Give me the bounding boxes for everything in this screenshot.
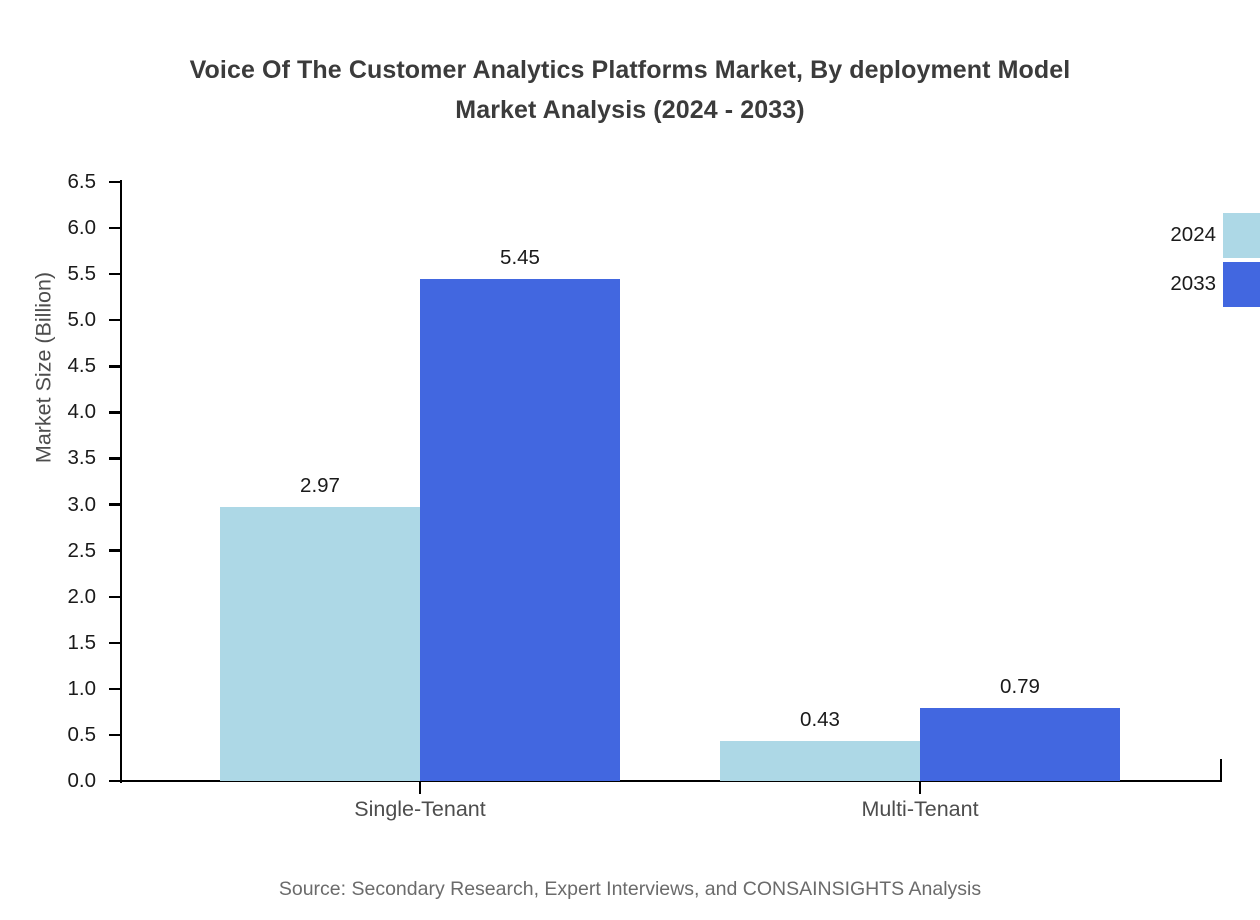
- y-axis-title-text: Market Size (Billion): [32, 272, 56, 463]
- x-axis-tick-label: Single-Tenant: [260, 797, 580, 822]
- legend-item-2033[interactable]: 2033: [1130, 262, 1260, 307]
- y-axis-tick-mark: [109, 596, 122, 598]
- x-axis-tick-mark: [919, 781, 921, 794]
- source-note-text: Source: Secondary Research, Expert Inter…: [279, 878, 981, 900]
- x-axis-tick-mark: [419, 781, 421, 794]
- source-note: Source: Secondary Research, Expert Inter…: [0, 878, 1260, 901]
- bar-value-label: 0.43: [720, 708, 920, 732]
- y-axis-tick-label: 2.5: [68, 539, 97, 563]
- y-axis-tick-label: 1.0: [68, 677, 97, 701]
- y-axis-tick-label: 5.0: [68, 308, 97, 332]
- y-axis-title: Market Size (Billion): [32, 238, 57, 498]
- bar-value-label: 2.97: [220, 474, 420, 498]
- bar-value-label: 5.45: [420, 246, 620, 270]
- x-axis-tick-label: Multi-Tenant: [760, 797, 1080, 822]
- y-axis-tick-mark: [109, 457, 122, 459]
- chart-title: Voice Of The Customer Analytics Platform…: [0, 50, 1260, 130]
- chart-title-line-1: Voice Of The Customer Analytics Platform…: [0, 50, 1260, 90]
- legend-color-swatch: [1223, 213, 1260, 258]
- y-axis-tick-mark: [109, 181, 122, 183]
- y-axis-tick-label: 1.5: [68, 631, 97, 655]
- chart-title-line-2: Market Analysis (2024 - 2033): [0, 90, 1260, 130]
- y-axis-tick-label: 6.5: [68, 170, 97, 194]
- y-axis-tick-label: 6.0: [68, 216, 97, 240]
- plot-area: 2.975.450.430.79: [122, 182, 1222, 781]
- y-axis-tick-label: 0.5: [68, 723, 97, 747]
- y-axis-tick-label: 4.0: [68, 400, 97, 424]
- y-axis-tick-mark: [109, 273, 122, 275]
- y-axis-tick-label: 5.5: [68, 262, 97, 286]
- bar-value-label: 0.79: [920, 675, 1120, 699]
- bar-2033-multi-tenant[interactable]: [920, 708, 1120, 781]
- legend-item-2024[interactable]: 2024: [1130, 213, 1260, 258]
- y-axis-tick-mark: [109, 642, 122, 644]
- y-axis-tick-mark: [109, 688, 122, 690]
- legend-color-swatch: [1223, 262, 1260, 307]
- y-axis-tick-mark: [109, 365, 122, 367]
- y-axis-tick-label: 3.0: [68, 493, 97, 517]
- y-axis-tick-label: 2.0: [68, 585, 97, 609]
- y-axis-tick-label: 3.5: [68, 446, 97, 470]
- y-axis-tick-mark: [109, 549, 122, 551]
- bar-2024-single-tenant[interactable]: [220, 507, 420, 781]
- y-axis-tick-label: 0.0: [68, 769, 97, 793]
- y-axis-tick-mark: [109, 780, 122, 782]
- y-axis-tick-mark: [109, 503, 122, 505]
- y-axis-tick-mark: [109, 734, 122, 736]
- bar-2033-single-tenant[interactable]: [420, 279, 620, 781]
- y-axis-tick-mark: [109, 411, 122, 413]
- legend-item-label: 2033: [1130, 272, 1216, 296]
- bar-2024-multi-tenant[interactable]: [720, 741, 920, 781]
- y-axis-tick-mark: [109, 319, 122, 321]
- legend-item-label: 2024: [1130, 223, 1216, 247]
- y-axis-tick-label: 4.5: [68, 354, 97, 378]
- y-axis-tick-mark: [109, 227, 122, 229]
